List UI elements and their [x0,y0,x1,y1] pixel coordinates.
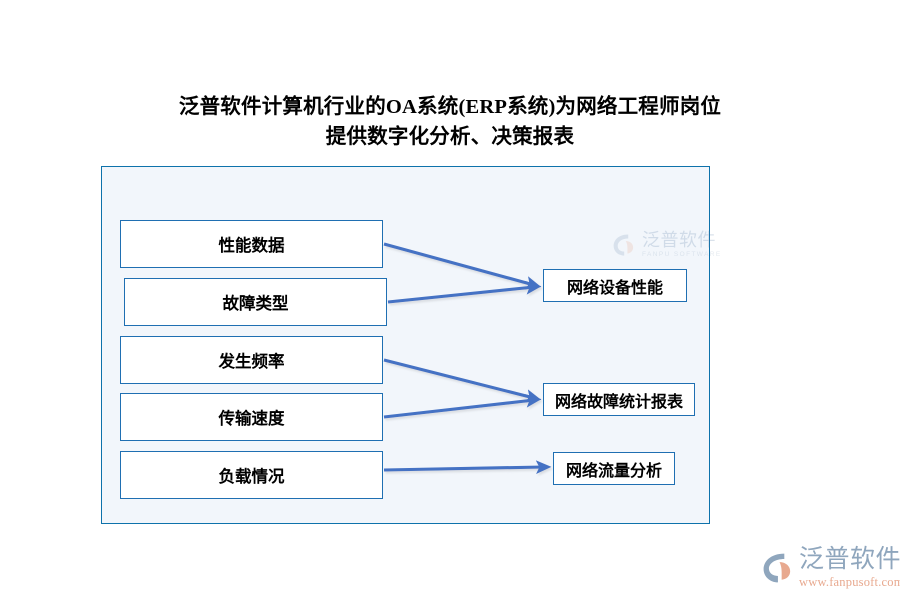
output-node-label: 网络流量分析 [566,457,662,481]
page-title-line-2: 提供数字化分析、决策报表 [90,122,810,152]
page-title: 泛普软件计算机行业的OA系统(ERP系统)为网络工程师岗位 提供数字化分析、决策… [90,92,810,152]
output-node-label: 网络设备性能 [567,274,663,298]
input-node-label: 负载情况 [219,463,285,487]
input-node-label: 故障类型 [223,290,289,314]
input-node-transmission-speed[interactable]: 传输速度 [120,393,383,441]
input-node-load-status[interactable]: 负载情况 [120,451,383,499]
input-node-occurrence-frequency[interactable]: 发生频率 [120,336,383,384]
input-node-label: 发生频率 [219,348,285,372]
output-node-device-performance[interactable]: 网络设备性能 [543,269,687,302]
input-node-label: 传输速度 [219,405,285,429]
brand-logo-cn: 泛普软件 [799,547,900,572]
brand-logo: 泛普软件 www.fanpusoft.com [762,543,894,593]
input-node-label: 性能数据 [219,232,285,256]
output-node-traffic-analysis[interactable]: 网络流量分析 [553,452,675,485]
diagram-canvas: 泛普软件计算机行业的OA系统(ERP系统)为网络工程师岗位 提供数字化分析、决策… [0,0,900,600]
input-node-fault-type[interactable]: 故障类型 [124,278,387,326]
input-node-performance-data[interactable]: 性能数据 [120,220,383,268]
fanpu-logo-icon [762,551,796,585]
output-node-fault-statistics-report[interactable]: 网络故障统计报表 [543,383,695,416]
brand-logo-url: www.fanpusoft.com [799,576,900,589]
output-node-label: 网络故障统计报表 [555,388,683,412]
page-title-line-1: 泛普软件计算机行业的OA系统(ERP系统)为网络工程师岗位 [90,92,810,122]
brand-logo-text: 泛普软件 www.fanpusoft.com [799,547,900,589]
